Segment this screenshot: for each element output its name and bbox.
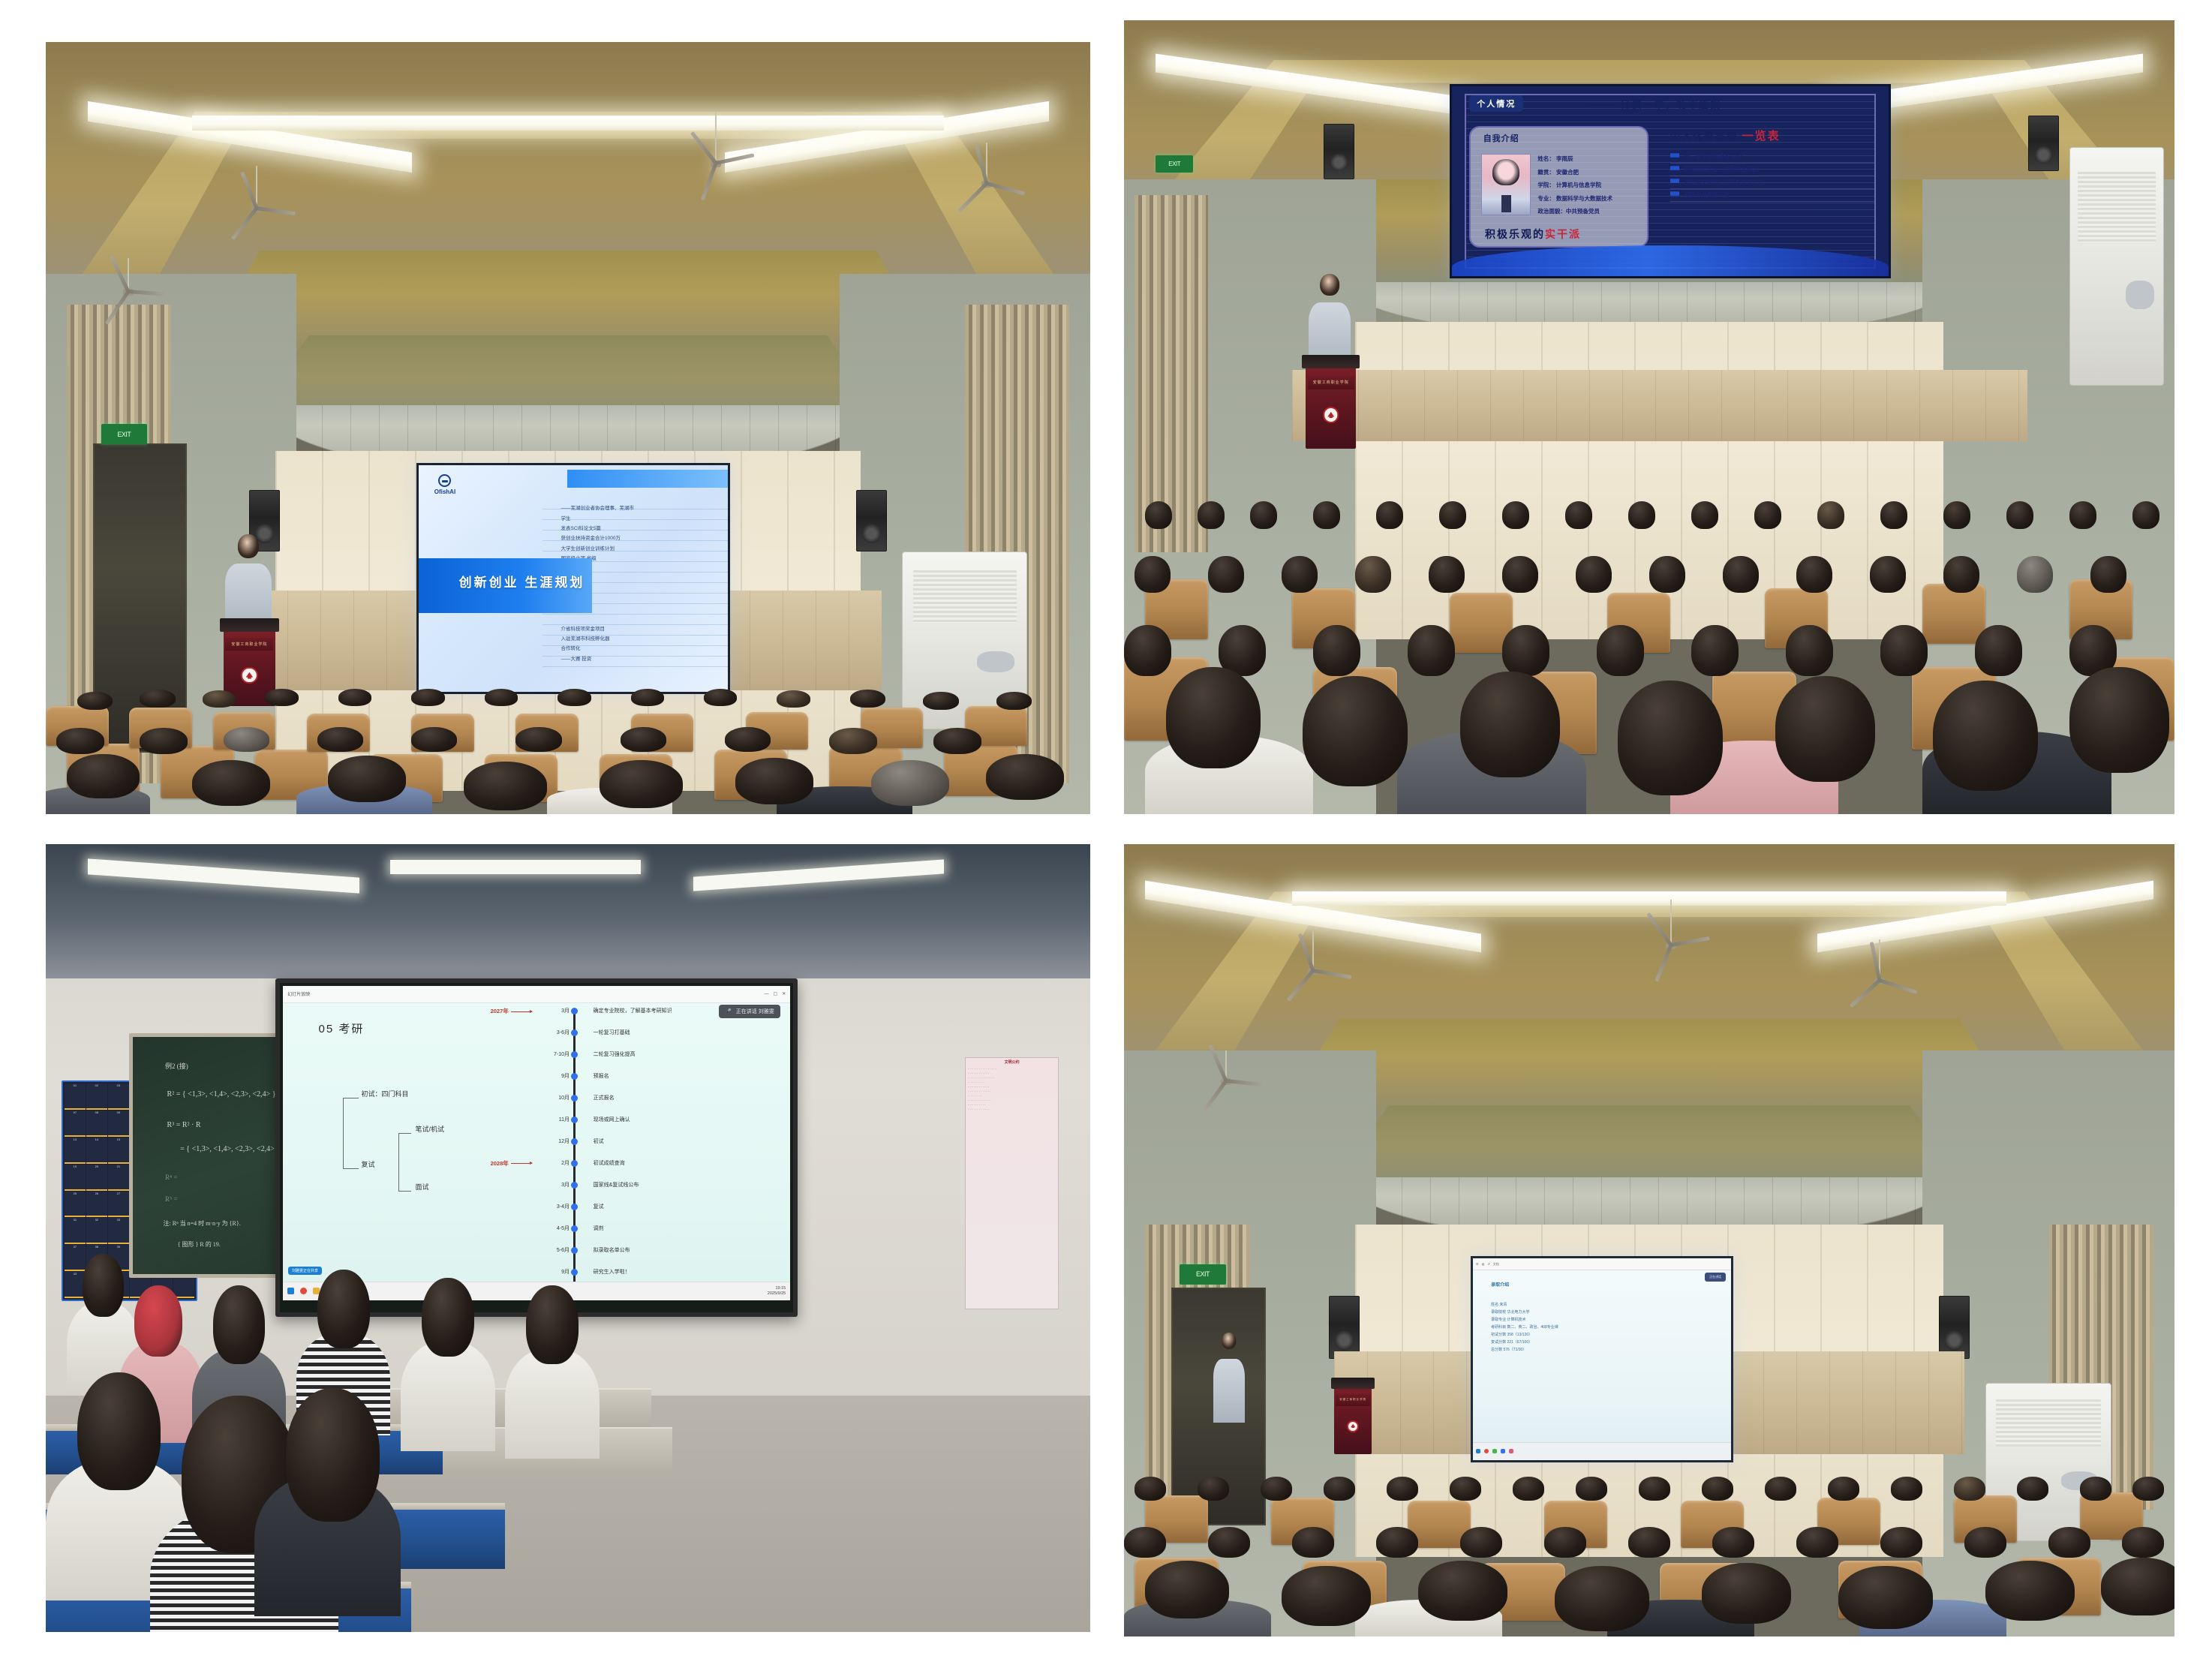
audience-head	[1450, 1477, 1481, 1500]
tree-branch	[398, 1191, 412, 1192]
audience-head	[1292, 1527, 1334, 1558]
audience-head	[2090, 556, 2126, 593]
led-wall-top-right: 个人情况 日供一卒，功不唐捐 自我介绍 姓名： 李雨辰 籍贯： 安徽合肥 学院：…	[1450, 84, 1891, 278]
ceiling-fan-1	[234, 166, 279, 212]
timeline-month: 3-6月	[533, 1029, 570, 1036]
student-fields: 姓名： 李雨辰 籍贯： 安徽合肥 学院： 计算机与信息学院 专业： 数据科学与大…	[1537, 152, 1643, 218]
timeline-row: 3-6月 一轮复习打基础	[506, 1029, 771, 1038]
bullet-line: ——芜湖创业者协会理事、芜湖市	[561, 503, 721, 513]
timeline-dot	[571, 1073, 578, 1080]
flag-icon	[1670, 153, 1679, 160]
audience-head	[725, 727, 771, 752]
audience-head	[1817, 501, 1844, 529]
audience-head	[1723, 556, 1759, 593]
audience-head	[56, 728, 104, 754]
audience-head	[1576, 1477, 1607, 1500]
audience-head	[2080, 1477, 2111, 1500]
pocket-slot: 14	[86, 1138, 107, 1164]
audience-head	[2122, 1527, 2164, 1558]
pocket-slot: 20	[86, 1165, 107, 1191]
exit-sign: EXIT	[1156, 155, 1193, 173]
doc-line: 姓名 未青	[1491, 1301, 1713, 1309]
slogan-accent: 实干派	[1545, 228, 1581, 240]
slide-surface: 幻灯片放映 — ▢ ✕ 05 考研 初试：四门科目 复试	[283, 986, 790, 1301]
audience-head	[224, 727, 269, 752]
audience-head	[1891, 1477, 1922, 1500]
poster-title: 文明公约	[968, 1060, 1056, 1066]
tree-branch	[398, 1133, 412, 1134]
audience-head-foreground	[735, 758, 813, 804]
doc-line: 复试分数 221（67/100）	[1491, 1339, 1713, 1346]
audience-head	[1628, 501, 1655, 529]
timeline-label: 研究生入学啦！	[594, 1268, 630, 1276]
audience-head	[1880, 1527, 1922, 1558]
pocket-slot: 19	[65, 1165, 86, 1191]
audience-head-foreground	[1702, 1563, 1791, 1623]
pocket-slot: 27	[108, 1192, 129, 1218]
pocket-slot: 26	[86, 1192, 107, 1218]
title-accent: 一览表	[1742, 130, 1781, 143]
tree-leaf-written-test: 笔试/机试	[416, 1124, 445, 1134]
field-major: 专业： 数据科学与大数据技术	[1537, 192, 1643, 206]
timeline-month: 5-6月	[533, 1246, 570, 1254]
audience-head	[411, 727, 457, 752]
audience-head	[1355, 556, 1391, 593]
tree-node-second-exam: 复试	[361, 1159, 374, 1169]
timeline-label: 复试	[594, 1203, 604, 1210]
audience-head	[1513, 1477, 1544, 1500]
student-head	[422, 1278, 474, 1357]
tree-leaf-interview: 面试	[416, 1182, 429, 1192]
audience-head-foreground	[464, 762, 547, 810]
timeline-month: 4-5月	[533, 1225, 570, 1232]
audience-top-right	[1124, 353, 2174, 814]
audience-head	[1261, 1477, 1292, 1500]
pocket-slot: 31	[65, 1218, 86, 1244]
audience-head-foreground	[67, 754, 140, 798]
document-heading: 录取介绍	[1491, 1281, 1509, 1288]
audience-head-foreground	[871, 760, 949, 807]
audience-head	[1502, 556, 1538, 593]
audience-head	[1313, 625, 1360, 675]
pocket-slot: 01	[65, 1083, 86, 1110]
pocket-slot: 07	[65, 1111, 86, 1137]
audience-head	[1796, 556, 1832, 593]
timeline-dot	[571, 1138, 578, 1145]
blackboard-text-left: = { <1,3>, <1,4>, <2,3>, <2,4> }	[156, 1132, 280, 1167]
audience-head	[140, 690, 175, 708]
slide-motto: 日供一卒，功不唐捐	[1587, 97, 1721, 111]
audience-head	[1828, 1477, 1859, 1500]
doc-line: 初试分数 358（13/130）	[1491, 1331, 1713, 1339]
audience-bottom-right	[1124, 1375, 2174, 1636]
student-body	[505, 1348, 599, 1459]
audience-head	[1943, 556, 1979, 593]
pocket-slot: 25	[65, 1192, 86, 1218]
audience-head-foreground	[192, 760, 270, 807]
bullet-line: 学生	[561, 514, 721, 524]
logo-text: OfishAI	[434, 488, 455, 495]
achievement-row: 获特等奖学金、优秀学生干部	[1670, 164, 1876, 176]
timeline-month: 3月	[533, 1007, 570, 1014]
audience-head	[1597, 625, 1644, 675]
timeline-month: 9月	[533, 1268, 570, 1276]
audience-head-foreground	[2069, 667, 2169, 773]
timeline-month: 3月	[533, 1181, 570, 1189]
audience-head	[2017, 1477, 2048, 1500]
tree-trunk	[343, 1098, 344, 1168]
timeline-month: 7-10月	[533, 1050, 570, 1058]
timeline-month: 12月	[533, 1138, 570, 1145]
student-head-foreground	[286, 1388, 380, 1522]
audience-head	[2006, 501, 2033, 529]
bullet-line: 大学生创新创业训练计划	[561, 544, 721, 554]
audience-head	[850, 690, 885, 708]
audience-head-foreground	[1775, 676, 1875, 782]
timeline-dot	[571, 1160, 578, 1167]
audience-head	[265, 689, 299, 706]
field-hometown: 籍贯： 安徽合肥	[1537, 166, 1643, 179]
pocket-slot: 13	[65, 1138, 86, 1164]
timeline-dot	[571, 1269, 578, 1276]
audience-head	[1208, 1527, 1250, 1558]
pocket-slot: 32	[86, 1218, 107, 1244]
document-toolbar[interactable]: ☰ ▤ ↺ 文档	[1473, 1258, 1731, 1270]
timeline-row: 3-4月 复试	[506, 1203, 771, 1212]
timeline-dot	[571, 1117, 578, 1123]
audience-head	[621, 727, 666, 752]
menu-icon[interactable]: ☰	[1476, 1262, 1479, 1266]
audience-head-foreground	[600, 760, 683, 808]
slide-title: 05 考研	[319, 1020, 365, 1036]
timeline-month: 2月	[533, 1159, 570, 1167]
share-status-pill: 刘雅雯正在共享	[288, 1267, 322, 1275]
wall-poster: 文明公约 · · · · · · · · · · · · · · · ·· · …	[965, 1057, 1059, 1309]
blackboard-text-left: { 图形 } R 的 19.	[160, 1231, 221, 1259]
audience-head	[1502, 501, 1529, 529]
slide-logo: OfishAI	[434, 474, 455, 495]
timeline-label: 确定专业院校，了解基本考研知识	[594, 1007, 672, 1014]
audience-head	[1796, 1527, 1838, 1558]
timeline-row: 10月 正式报名	[506, 1094, 771, 1103]
audience-head-foreground	[1838, 1566, 1933, 1629]
audience-head	[1208, 556, 1244, 593]
audience-head-foreground	[2101, 1558, 2174, 1615]
audience-head	[1439, 501, 1466, 529]
audience-head	[140, 728, 188, 754]
loudspeaker-left	[1329, 1296, 1360, 1359]
flag-icon	[1670, 191, 1679, 198]
slide-headline: 创新创业 生涯规划	[459, 572, 585, 591]
photo-bottom-left: 01 02 03 04 05 06 07 08 09 10 11 12 13 1…	[46, 844, 1090, 1632]
student-head-foreground	[77, 1372, 161, 1491]
seat	[1922, 584, 1985, 644]
close-icon[interactable]: ✕	[782, 991, 786, 996]
timeline-dot	[571, 1029, 578, 1036]
speaking-toast: 🎤 正在讲话 刘雅雯	[719, 1005, 780, 1018]
audience-head-foreground	[1418, 1561, 1507, 1621]
student-head	[317, 1270, 370, 1348]
audience-head	[1880, 501, 1907, 529]
ceiling-fan-3	[965, 143, 1008, 188]
taskbar-clock: 19:15 2025/9/25	[768, 1286, 786, 1297]
audience-head	[558, 689, 591, 706]
ceiling-fan-4	[109, 258, 148, 296]
timeline-label: 预报名	[594, 1072, 609, 1080]
timeline-row: 4-5月 调剂	[506, 1225, 771, 1234]
timeline-year: 2028年	[491, 1159, 532, 1168]
student-head	[526, 1285, 579, 1364]
loudspeaker-right	[2028, 116, 2059, 171]
maximize-icon[interactable]: ▢	[774, 991, 778, 996]
photo-bottom-right: EXIT	[1124, 844, 2174, 1636]
slide-surface: 个人情况 日供一卒，功不唐捐 自我介绍 姓名： 李雨辰 籍贯： 安徽合肥 学院：…	[1452, 86, 1889, 276]
pocket-slot: 33	[108, 1218, 129, 1244]
audience-head	[1324, 1477, 1355, 1500]
audience-head	[1712, 1527, 1754, 1558]
timeline-label: 调剂	[594, 1225, 604, 1232]
tree-node-first-exam: 初试：四门科目	[361, 1089, 408, 1098]
field-college: 学院： 计算机与信息学院	[1537, 179, 1643, 192]
student-body	[401, 1341, 494, 1451]
browser-icon[interactable]	[300, 1288, 307, 1294]
audience-head	[1145, 501, 1172, 529]
photo-collage: EXIT	[0, 0, 2212, 1659]
audience-head	[1124, 1527, 1166, 1558]
timeline-row: 9月 研究生入学啦！	[506, 1268, 771, 1277]
air-conditioner	[2069, 147, 2164, 385]
audience-head	[2132, 1477, 2164, 1500]
exam-timeline: 2027年 3月 确定专业院校，了解基本考研知识 3-6月 一轮复习打基础 7-…	[506, 1001, 771, 1291]
audience-head	[1544, 1527, 1586, 1558]
audience-head	[203, 690, 236, 708]
field-name: 姓名： 李雨辰	[1537, 152, 1643, 166]
audience-head	[933, 728, 981, 754]
clock-time: 19:15	[775, 1286, 786, 1291]
student-head	[213, 1285, 266, 1364]
timeline-dot	[571, 1247, 578, 1254]
audience-head	[1376, 501, 1403, 529]
audience-head	[1628, 1527, 1670, 1558]
poster-body: · · · · · · · · · · · · · · · ·· · · · ·…	[968, 1067, 996, 1111]
ceiling-fan-1	[1292, 931, 1334, 975]
slide-section-tag: 个人情况	[1469, 95, 1523, 112]
audience-head	[1964, 1527, 2006, 1558]
timeline-label: 正式报名	[594, 1094, 615, 1101]
timeline-month: 11月	[533, 1116, 570, 1123]
audience-head	[2048, 1527, 2090, 1558]
smart-display-bottom-left[interactable]: 幻灯片放映 — ▢ ✕ 05 考研 初试：四门科目 复试	[275, 978, 798, 1318]
audience-head	[996, 692, 1032, 710]
audience-head	[338, 689, 372, 706]
audience-head	[1691, 625, 1739, 675]
pocket-slot: 03	[108, 1083, 129, 1110]
self-intro-card: 自我介绍 姓名： 李雨辰 籍贯： 安徽合肥 学院： 计算机与信息学院 专业： 数…	[1469, 126, 1648, 248]
speaker-head	[1321, 274, 1340, 296]
timeline-row: 11月 现场或网上确认	[506, 1116, 771, 1125]
speaker-head	[1222, 1333, 1236, 1349]
audience-head	[777, 690, 810, 708]
student-head-with-cap	[134, 1285, 182, 1357]
doc-name: 文档	[1493, 1262, 1499, 1267]
undo-icon[interactable]: ↺	[1487, 1262, 1489, 1266]
microphone-icon: 🎤	[725, 1008, 732, 1014]
audience-head-foreground	[1618, 681, 1723, 795]
audience-head	[829, 728, 877, 754]
tree-branch	[343, 1098, 359, 1098]
tree-branch	[343, 1168, 359, 1169]
achievements-list: 大二学年班级排名 1/42 获特等奖学金、优秀学生干部 获社区文化节、三下乡先进…	[1670, 151, 1876, 202]
timeline-month: 10月	[533, 1094, 570, 1101]
audience-head	[1639, 1477, 1670, 1500]
timeline-dot	[571, 1051, 578, 1058]
audience-head	[1702, 1477, 1733, 1500]
flag-icon	[1670, 179, 1679, 185]
start-icon[interactable]	[287, 1288, 294, 1294]
achievements-title: 个人优秀事迹 一览表	[1670, 128, 1781, 143]
card-slogan: 积极乐观的实干派	[1485, 227, 1581, 242]
blackboard-text-left: R² = { <1,3>, <1,4>, <2,3>, <2,4> }	[149, 1077, 276, 1113]
pocket-slot: 08	[86, 1111, 107, 1137]
audience-head	[1135, 1477, 1166, 1500]
bullet-line: 发表SCI科论文5篇	[561, 524, 721, 533]
audience-head	[411, 689, 445, 706]
tree-trunk-2	[398, 1133, 399, 1191]
pocket-slot: 37	[65, 1245, 86, 1271]
ceiling-fan-4	[1208, 1050, 1244, 1085]
audience-head	[1250, 501, 1277, 529]
timeline-label: 现场或网上确认	[594, 1116, 630, 1123]
audience-head	[2132, 501, 2159, 529]
audience-head	[485, 689, 518, 706]
audience-head	[1975, 625, 2022, 675]
timeline-dot	[571, 1204, 578, 1210]
loudspeaker-left	[1324, 124, 1354, 179]
timeline-month: 3-4月	[533, 1203, 570, 1210]
doc-line: 总分数 576（71/30）	[1491, 1346, 1713, 1354]
timeline-label: 二轮复习强化提高	[594, 1050, 636, 1058]
audience-head	[1754, 501, 1781, 529]
audience-head	[1880, 625, 1928, 675]
pocket-slot: 09	[108, 1111, 129, 1137]
achievement-row: 大二学年班级排名 1/42	[1670, 151, 1876, 164]
audience-head	[631, 689, 665, 706]
audience-head	[515, 727, 561, 752]
exit-sign: EXIT	[1180, 1264, 1226, 1285]
card-header: 自我介绍	[1483, 132, 1519, 144]
audience-head	[1429, 556, 1465, 593]
audience-head	[1649, 556, 1685, 593]
audience-head	[1376, 1527, 1418, 1558]
slide-blue-header-bar	[567, 470, 728, 488]
timeline-year: 2027年	[491, 1007, 532, 1015]
audience-head	[1408, 625, 1455, 675]
doc-line: 录取专业 计算机技术	[1491, 1316, 1713, 1324]
audience-head-foreground	[986, 754, 1064, 801]
student-head	[83, 1254, 125, 1317]
timeline-dot	[571, 1095, 578, 1101]
timeline-row: 12月 初试	[506, 1138, 771, 1147]
timeline-dot	[571, 1225, 578, 1232]
audience-head	[1313, 501, 1340, 529]
save-icon[interactable]: ▤	[1482, 1262, 1485, 1266]
document-body: 姓名 未青 录取院校 华北电力大学 录取专业 计算机技术 考研科目 数二、英二、…	[1491, 1301, 1713, 1354]
audience-head	[1576, 556, 1612, 593]
audience-head-foreground	[1985, 1561, 2075, 1621]
audience-head-foreground	[1933, 681, 2038, 791]
audience-head	[1135, 556, 1171, 593]
ceiling-fan-3	[1859, 939, 1900, 984]
exam-structure-tree: 初试：四门科目 复试 笔试/机试 面试	[339, 1080, 471, 1206]
photo-top-left: EXIT	[46, 42, 1090, 814]
timeline-dot	[571, 1008, 578, 1014]
toolbar-label: 幻灯片放映	[287, 990, 310, 997]
timeline-row: 3月 国家线&复试线公布	[506, 1181, 771, 1190]
achievement-row: 获社区文化节、三下乡先进个人	[1670, 176, 1876, 189]
exit-sign: EXIT	[101, 424, 147, 444]
timeline-label: 国家线&复试线公布	[594, 1181, 639, 1189]
presentation-toolbar[interactable]: 幻灯片放映 — ▢ ✕	[283, 986, 790, 1003]
timeline-row: 7-10月 二轮复习强化提高	[506, 1050, 771, 1059]
speaking-toast: 正在讲话	[1705, 1273, 1726, 1282]
audience-head	[1198, 1477, 1229, 1500]
timeline-label: 拟录取名单公布	[594, 1246, 630, 1254]
timeline-label: 初试成绩查询	[594, 1159, 625, 1167]
audience-head-foreground	[1145, 1561, 1229, 1618]
audience-head	[1198, 501, 1225, 529]
audience-head	[1502, 625, 1549, 675]
ceiling-fan-2	[1649, 900, 1693, 949]
timeline-row: 9月 预报名	[506, 1072, 771, 1081]
audience-head	[1282, 556, 1318, 593]
timeline-row: 5-6月 拟录取名单公布	[506, 1246, 771, 1255]
audience-head	[923, 692, 958, 710]
audience-head	[1124, 625, 1171, 675]
audience-head-foreground	[1303, 676, 1408, 786]
timeline-label: 一轮复习打基础	[594, 1029, 630, 1036]
audience-head	[2017, 556, 2053, 593]
field-political-status: 政治面貌：中共预备党员	[1537, 205, 1643, 218]
slide-bullet-list: ——芜湖创业者协会理事、芜湖市 学生 发表SCI科论文5篇 获创业扶持资金合计1…	[561, 503, 721, 564]
timeline-row: 2028年 2月 初试成绩查询	[506, 1159, 771, 1168]
audience-head-foreground	[1282, 1566, 1371, 1626]
motto-dash	[1587, 104, 1615, 106]
audience-head	[1460, 1527, 1502, 1558]
minimize-icon[interactable]: —	[765, 992, 769, 996]
timeline-label: 初试	[594, 1138, 604, 1145]
ceiling-fan-2	[693, 112, 738, 167]
audience-head	[1786, 625, 1833, 675]
audience-head	[2069, 501, 2096, 529]
ceiling-light-center	[192, 116, 944, 131]
loudspeaker-right	[856, 490, 886, 551]
audience-head	[1765, 1477, 1796, 1500]
audience-head	[704, 689, 738, 706]
pocket-slot: 15	[108, 1138, 129, 1164]
doc-line: 考研科目 数二、英二、政治、408专业课	[1491, 1324, 1713, 1331]
audience-head	[1943, 501, 1970, 529]
audience-head	[1387, 1477, 1418, 1500]
flag-icon	[1670, 166, 1679, 173]
ceiling-light-panel	[390, 860, 641, 874]
audience-head-foreground	[328, 756, 406, 802]
audience-head-foreground	[1166, 667, 1261, 768]
pocket-slot: 21	[108, 1165, 129, 1191]
logo-mark-icon	[438, 474, 451, 487]
audience-head	[77, 692, 113, 710]
achievement-row: 获优秀共青团干部	[1670, 189, 1876, 202]
audience-head	[1691, 501, 1718, 529]
